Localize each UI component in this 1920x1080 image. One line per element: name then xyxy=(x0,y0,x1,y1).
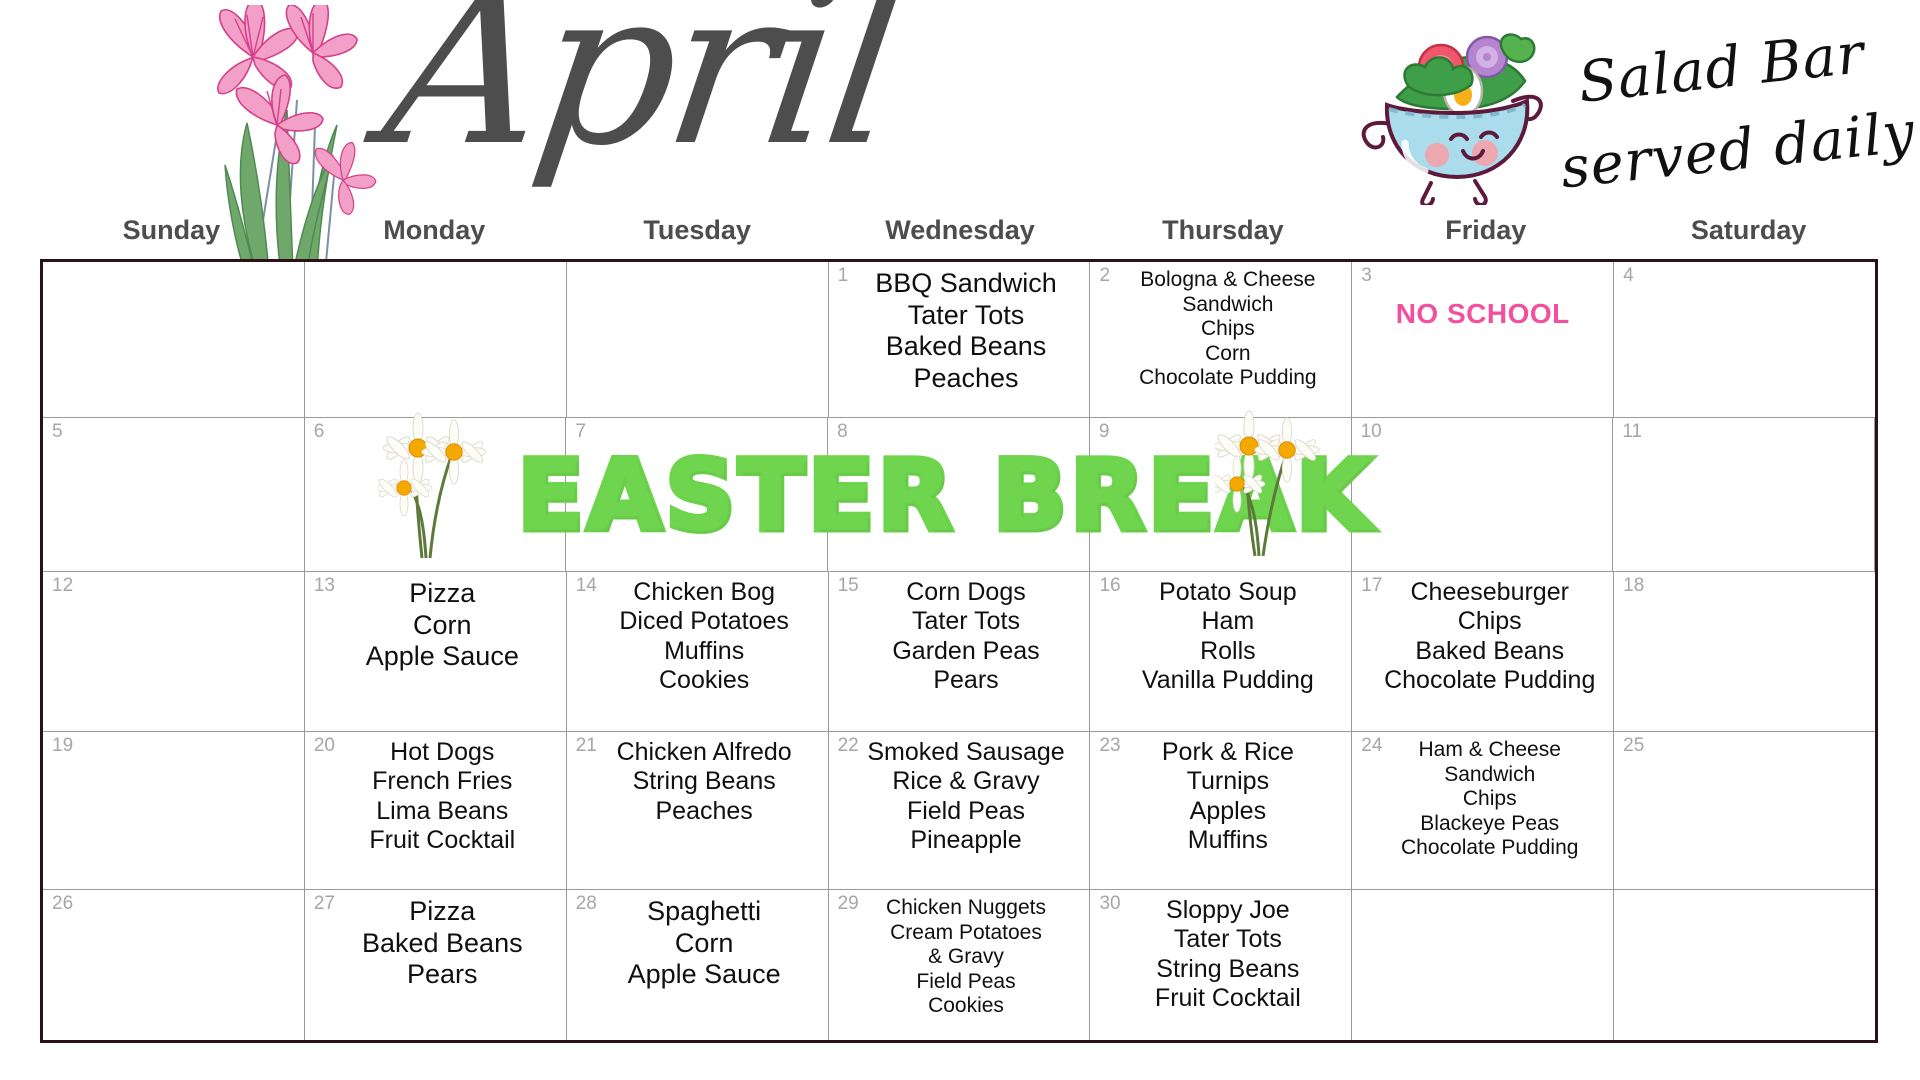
day-number: 7 xyxy=(575,422,586,441)
weekday-wednesday: Wednesday xyxy=(829,215,1092,260)
calendar-day-cell[interactable]: 18 xyxy=(1614,572,1875,731)
day-number: 5 xyxy=(52,422,63,441)
weekday-header-row: Sunday Monday Tuesday Wednesday Thursday… xyxy=(40,215,1880,260)
day-number: 20 xyxy=(314,736,335,755)
menu-item: String Beans xyxy=(1110,955,1345,984)
salad-bar-note: Salad Bar served daily xyxy=(1560,20,1910,190)
calendar-day-cell[interactable] xyxy=(43,262,305,417)
menu-list: Chicken AlfredoString BeansPeaches xyxy=(573,738,822,826)
menu-list: Chicken BogDiced PotatoesMuffinsCookies xyxy=(573,578,822,695)
calendar-week-1: 1BBQ SandwichTater TotsBaked BeansPeache… xyxy=(43,262,1875,418)
menu-item: Chicken Alfredo xyxy=(587,738,822,767)
menu-item: Chips xyxy=(1372,787,1607,812)
day-number: 25 xyxy=(1623,736,1644,755)
menu-list: Sloppy JoeTater TotsString BeansFruit Co… xyxy=(1096,896,1345,1013)
day-number: 27 xyxy=(314,894,335,913)
calendar-day-cell[interactable]: 4 xyxy=(1614,262,1875,417)
menu-item: Baked Beans xyxy=(1372,637,1607,666)
menu-list: Bologna & CheeseSandwichChipsCornChocola… xyxy=(1096,268,1345,391)
menu-item: Bologna & Cheese xyxy=(1110,268,1345,293)
menu-item: BBQ Sandwich xyxy=(849,268,1084,300)
calendar-day-cell[interactable]: 14Chicken BogDiced PotatoesMuffinsCookie… xyxy=(567,572,829,731)
menu-item: Pizza xyxy=(325,896,560,928)
menu-item: Corn Dogs xyxy=(849,578,1084,607)
calendar-day-cell[interactable]: 3NO SCHOOL xyxy=(1352,262,1614,417)
weekday-friday: Friday xyxy=(1354,215,1617,260)
menu-item: Chips xyxy=(1110,317,1345,342)
day-number: 22 xyxy=(838,736,859,755)
weekday-sunday: Sunday xyxy=(40,215,303,260)
menu-item: String Beans xyxy=(587,767,822,796)
menu-item: Vanilla Pudding xyxy=(1110,666,1345,695)
menu-list: PizzaCornApple Sauce xyxy=(311,578,560,673)
day-number: 2 xyxy=(1099,266,1110,285)
calendar-week-2: 567891011 xyxy=(43,418,1875,572)
day-number: 24 xyxy=(1361,736,1382,755)
calendar-day-cell[interactable] xyxy=(567,262,829,417)
day-number: 23 xyxy=(1099,736,1120,755)
menu-item: Tater Tots xyxy=(849,300,1084,332)
menu-item: Ham & Cheese xyxy=(1372,738,1607,763)
menu-item: Hot Dogs xyxy=(325,738,560,767)
menu-item: Lima Beans xyxy=(325,797,560,826)
calendar-week-3: 1213PizzaCornApple Sauce14Chicken BogDic… xyxy=(43,572,1875,732)
calendar-day-cell[interactable] xyxy=(1614,890,1875,1040)
calendar-day-cell[interactable] xyxy=(305,262,567,417)
menu-item: Potato Soup xyxy=(1110,578,1345,607)
day-number: 26 xyxy=(52,894,73,913)
menu-item: Pizza xyxy=(325,578,560,610)
menu-list: Smoked SausageRice & GravyField PeasPine… xyxy=(835,738,1084,855)
calendar-day-cell[interactable]: 11 xyxy=(1613,418,1875,571)
day-number: 29 xyxy=(838,894,859,913)
menu-item: Field Peas xyxy=(849,970,1084,995)
day-number: 16 xyxy=(1099,576,1120,595)
menu-item: Pork & Rice xyxy=(1110,738,1345,767)
day-number: 28 xyxy=(576,894,597,913)
menu-item: Fruit Cocktail xyxy=(325,826,560,855)
menu-item: Corn xyxy=(325,610,560,642)
menu-item: Rolls xyxy=(1110,637,1345,666)
day-number: 19 xyxy=(52,736,73,755)
menu-item: Chocolate Pudding xyxy=(1110,366,1345,391)
calendar-day-cell[interactable]: 8 xyxy=(828,418,1090,571)
menu-list: BBQ SandwichTater TotsBaked BeansPeaches xyxy=(835,268,1084,394)
calendar-week-4: 1920Hot DogsFrench FriesLima BeansFruit … xyxy=(43,732,1875,890)
menu-item: Diced Potatoes xyxy=(587,607,822,636)
calendar-week-5: 2627PizzaBaked BeansPears28SpaghettiCorn… xyxy=(43,890,1875,1040)
calendar-day-cell[interactable]: 7 xyxy=(566,418,828,571)
menu-item: & Gravy xyxy=(849,945,1084,970)
calendar-day-cell[interactable]: 26 xyxy=(43,890,305,1040)
calendar-day-cell[interactable]: 24Ham & CheeseSandwichChipsBlackeye Peas… xyxy=(1352,732,1614,889)
day-number: 21 xyxy=(576,736,597,755)
day-number: 11 xyxy=(1622,422,1642,441)
weekday-tuesday: Tuesday xyxy=(566,215,829,260)
calendar-day-cell[interactable]: 22Smoked SausageRice & GravyField PeasPi… xyxy=(829,732,1091,889)
menu-item: Rice & Gravy xyxy=(849,767,1084,796)
menu-item: Muffins xyxy=(1110,826,1345,855)
calendar-day-cell[interactable]: 25 xyxy=(1614,732,1875,889)
salad-bowl-mascot-icon xyxy=(1335,5,1550,205)
menu-item: Chocolate Pudding xyxy=(1372,666,1607,695)
menu-item: Smoked Sausage xyxy=(849,738,1084,767)
calendar-header: April xyxy=(0,0,1920,245)
menu-list: SpaghettiCornApple Sauce xyxy=(573,896,822,991)
calendar-day-cell[interactable]: 20Hot DogsFrench FriesLima BeansFruit Co… xyxy=(305,732,567,889)
menu-item: Pears xyxy=(325,959,560,991)
day-number: 15 xyxy=(838,576,859,595)
menu-item: Tater Tots xyxy=(849,607,1084,636)
calendar-day-cell[interactable]: 6 xyxy=(305,418,567,571)
menu-item: Baked Beans xyxy=(325,928,560,960)
menu-item: Apple Sauce xyxy=(325,641,560,673)
day-number: 3 xyxy=(1361,266,1372,285)
menu-item: Chicken Nuggets xyxy=(849,896,1084,921)
menu-list: Corn DogsTater TotsGarden PeasPears xyxy=(835,578,1084,695)
calendar-day-cell[interactable]: 10 xyxy=(1352,418,1614,571)
day-number: 9 xyxy=(1099,422,1110,441)
calendar-grid: 1BBQ SandwichTater TotsBaked BeansPeache… xyxy=(40,259,1878,1043)
menu-item: Garden Peas xyxy=(849,637,1084,666)
menu-list: CheeseburgerChipsBaked BeansChocolate Pu… xyxy=(1358,578,1607,695)
menu-list: Hot DogsFrench FriesLima BeansFruit Cock… xyxy=(311,738,560,855)
day-number: 1 xyxy=(838,266,849,285)
day-number: 8 xyxy=(837,422,848,441)
menu-list: Pork & RiceTurnipsApplesMuffins xyxy=(1096,738,1345,855)
menu-item: Fruit Cocktail xyxy=(1110,984,1345,1013)
day-number: 14 xyxy=(576,576,597,595)
menu-item: French Fries xyxy=(325,767,560,796)
calendar-day-cell[interactable]: 21Chicken AlfredoString BeansPeaches xyxy=(567,732,829,889)
menu-list: Ham & CheeseSandwichChipsBlackeye PeasCh… xyxy=(1358,738,1607,861)
day-number: 4 xyxy=(1623,266,1634,285)
no-school-label: NO SCHOOL xyxy=(1358,298,1607,330)
menu-item: Apple Sauce xyxy=(587,959,822,991)
calendar-day-cell[interactable]: 30Sloppy JoeTater TotsString BeansFruit … xyxy=(1090,890,1352,1040)
menu-item: Peaches xyxy=(849,363,1084,395)
menu-item: Chocolate Pudding xyxy=(1372,836,1607,861)
menu-item: Chicken Bog xyxy=(587,578,822,607)
calendar-day-cell[interactable]: 2Bologna & CheeseSandwichChipsCornChocol… xyxy=(1090,262,1352,417)
calendar-day-cell[interactable]: 13PizzaCornApple Sauce xyxy=(305,572,567,731)
calendar-day-cell[interactable]: 29Chicken NuggetsCream Potatoes& GravyFi… xyxy=(829,890,1091,1040)
calendar-day-cell[interactable]: 1BBQ SandwichTater TotsBaked BeansPeache… xyxy=(829,262,1091,417)
menu-item: Turnips xyxy=(1110,767,1345,796)
menu-item: Sandwich xyxy=(1110,293,1345,318)
calendar-day-cell[interactable]: 23Pork & RiceTurnipsApplesMuffins xyxy=(1090,732,1352,889)
day-number: 17 xyxy=(1361,576,1382,595)
day-number: 30 xyxy=(1099,894,1120,913)
menu-item: Apples xyxy=(1110,797,1345,826)
day-number: 6 xyxy=(314,422,325,441)
calendar-day-cell[interactable]: 5 xyxy=(43,418,305,571)
calendar-day-cell[interactable] xyxy=(1352,890,1614,1040)
day-number: 18 xyxy=(1623,576,1644,595)
menu-item: Cookies xyxy=(587,666,822,695)
weekday-thursday: Thursday xyxy=(1091,215,1354,260)
calendar-day-cell[interactable]: 28SpaghettiCornApple Sauce xyxy=(567,890,829,1040)
weekday-saturday: Saturday xyxy=(1617,215,1880,260)
page-title: April xyxy=(375,0,908,175)
menu-item: Blackeye Peas xyxy=(1372,812,1607,837)
menu-list: PizzaBaked BeansPears xyxy=(311,896,560,991)
day-number: 12 xyxy=(52,576,73,595)
calendar-day-cell[interactable]: 19 xyxy=(43,732,305,889)
day-number: 10 xyxy=(1361,422,1382,441)
menu-item: Corn xyxy=(587,928,822,960)
menu-item: Ham xyxy=(1110,607,1345,636)
menu-item: Pineapple xyxy=(849,826,1084,855)
menu-item: Cream Potatoes xyxy=(849,921,1084,946)
salad-bar-line2: served daily xyxy=(1558,100,1919,202)
calendar-day-cell[interactable]: 15Corn DogsTater TotsGarden PeasPears xyxy=(829,572,1091,731)
day-number: 13 xyxy=(314,576,335,595)
menu-item: Baked Beans xyxy=(849,331,1084,363)
menu-item: Sandwich xyxy=(1372,763,1607,788)
calendar-day-cell[interactable]: 12 xyxy=(43,572,305,731)
menu-item: Cookies xyxy=(849,994,1084,1019)
salad-bar-line1: Salad Bar xyxy=(1575,21,1867,116)
calendar-day-cell[interactable]: 16Potato SoupHamRollsVanilla Pudding xyxy=(1090,572,1352,731)
menu-item: Muffins xyxy=(587,637,822,666)
menu-list: Chicken NuggetsCream Potatoes& GravyFiel… xyxy=(835,896,1084,1019)
weekday-monday: Monday xyxy=(303,215,566,260)
calendar-day-cell[interactable]: 17CheeseburgerChipsBaked BeansChocolate … xyxy=(1352,572,1614,731)
menu-item: Field Peas xyxy=(849,797,1084,826)
menu-list: Potato SoupHamRollsVanilla Pudding xyxy=(1096,578,1345,695)
menu-item: Spaghetti xyxy=(587,896,822,928)
menu-item: Corn xyxy=(1110,342,1345,367)
menu-item: Pears xyxy=(849,666,1084,695)
menu-item: Peaches xyxy=(587,797,822,826)
menu-item: Sloppy Joe xyxy=(1110,896,1345,925)
calendar-day-cell[interactable]: 27PizzaBaked BeansPears xyxy=(305,890,567,1040)
menu-item: Cheeseburger xyxy=(1372,578,1607,607)
calendar-day-cell[interactable]: 9 xyxy=(1090,418,1352,571)
menu-item: Tater Tots xyxy=(1110,925,1345,954)
menu-item: Chips xyxy=(1372,607,1607,636)
